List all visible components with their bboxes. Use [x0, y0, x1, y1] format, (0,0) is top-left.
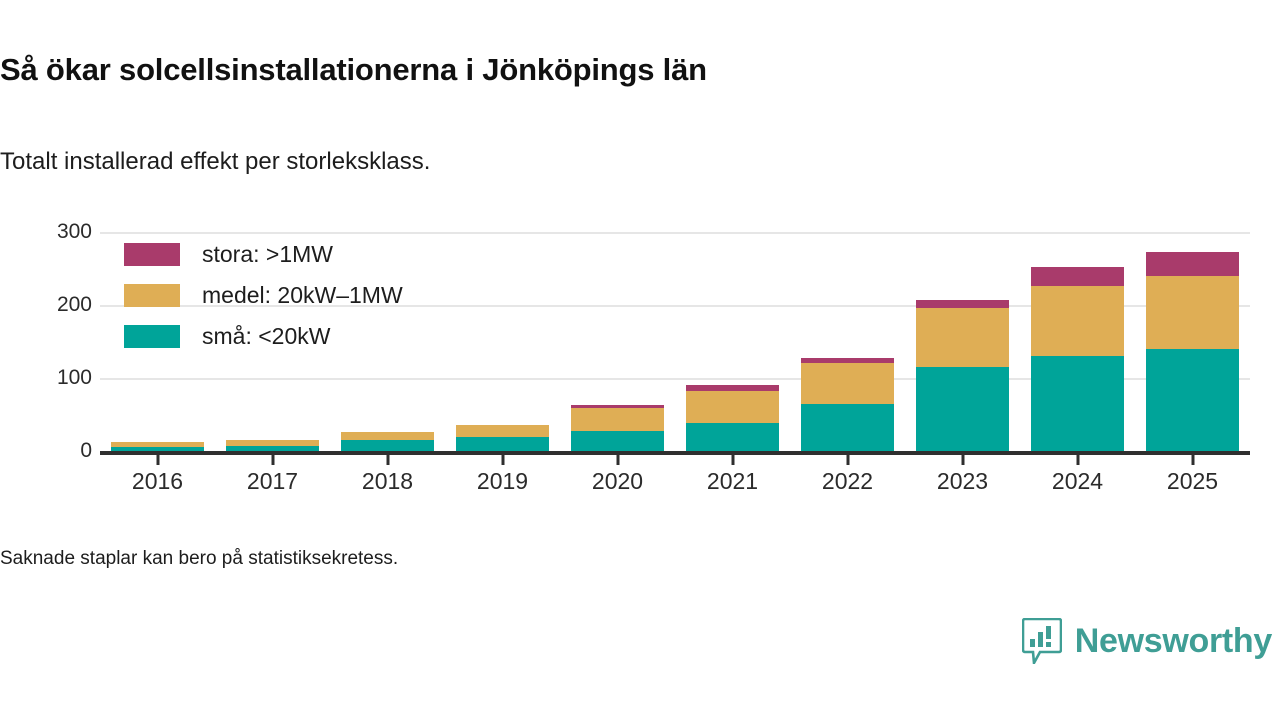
x-axis-slot: 2024	[1020, 451, 1135, 511]
footnote: Saknade staplar kan bero på statistiksek…	[0, 548, 398, 570]
x-axis-tick-mark	[156, 451, 159, 465]
legend-item[interactable]: små: <20kW	[124, 322, 403, 350]
x-axis-labels: 2016201720182019202020212022202320242025	[100, 451, 1250, 511]
legend-label: stora: >1MW	[202, 241, 333, 268]
chart-page: Så ökar solcellsinstallationerna i Jönkö…	[0, 0, 1280, 720]
x-axis-slot: 2019	[445, 451, 560, 511]
x-axis-tick-label: 2019	[477, 468, 528, 495]
legend-swatch	[124, 243, 180, 266]
x-axis-slot: 2020	[560, 451, 675, 511]
x-axis-tick-label: 2025	[1167, 468, 1218, 495]
x-axis-tick-mark	[961, 451, 964, 465]
legend-label: medel: 20kW–1MW	[202, 282, 403, 309]
x-axis-tick-mark	[386, 451, 389, 465]
y-axis-tick-label: 200	[57, 293, 92, 317]
x-axis-tick-mark	[731, 451, 734, 465]
x-axis-tick-mark	[846, 451, 849, 465]
x-axis-tick-mark	[1191, 451, 1194, 465]
x-axis-tick-label: 2021	[707, 468, 758, 495]
x-axis-slot: 2018	[330, 451, 445, 511]
chart-bubble-icon	[1022, 618, 1062, 664]
x-axis-tick-label: 2020	[592, 468, 643, 495]
x-axis-slot: 2021	[675, 451, 790, 511]
x-axis-slot: 2017	[215, 451, 330, 511]
x-axis-slot: 2016	[100, 451, 215, 511]
x-axis-tick-label: 2017	[247, 468, 298, 495]
newsworthy-logo[interactable]: Newsworthy	[1022, 618, 1272, 664]
x-axis-tick-label: 2018	[362, 468, 413, 495]
legend: stora: >1MWmedel: 20kW–1MWsmå: <20kW	[124, 240, 403, 350]
legend-label: små: <20kW	[202, 323, 330, 350]
x-axis-tick-label: 2024	[1052, 468, 1103, 495]
x-axis-tick-mark	[271, 451, 274, 465]
x-axis-slot: 2025	[1135, 451, 1250, 511]
legend-item[interactable]: stora: >1MW	[124, 240, 403, 268]
x-axis-tick-mark	[501, 451, 504, 465]
legend-swatch	[124, 284, 180, 307]
y-axis-tick-label: 300	[57, 220, 92, 244]
x-axis-slot: 2022	[790, 451, 905, 511]
legend-swatch	[124, 325, 180, 348]
x-axis-tick-mark	[1076, 451, 1079, 465]
page-title: Så ökar solcellsinstallationerna i Jönkö…	[0, 52, 707, 88]
y-axis-tick-label: 100	[57, 366, 92, 390]
x-axis-tick-label: 2023	[937, 468, 988, 495]
x-axis-tick-mark	[616, 451, 619, 465]
legend-item[interactable]: medel: 20kW–1MW	[124, 281, 403, 309]
x-axis-tick-label: 2022	[822, 468, 873, 495]
x-axis-slot: 2023	[905, 451, 1020, 511]
y-axis-tick-label: 0	[80, 439, 92, 463]
logo-wordmark: Newsworthy	[1075, 622, 1272, 661]
chart-subtitle: Totalt installerad effekt per storlekskl…	[0, 148, 430, 176]
x-axis-tick-label: 2016	[132, 468, 183, 495]
